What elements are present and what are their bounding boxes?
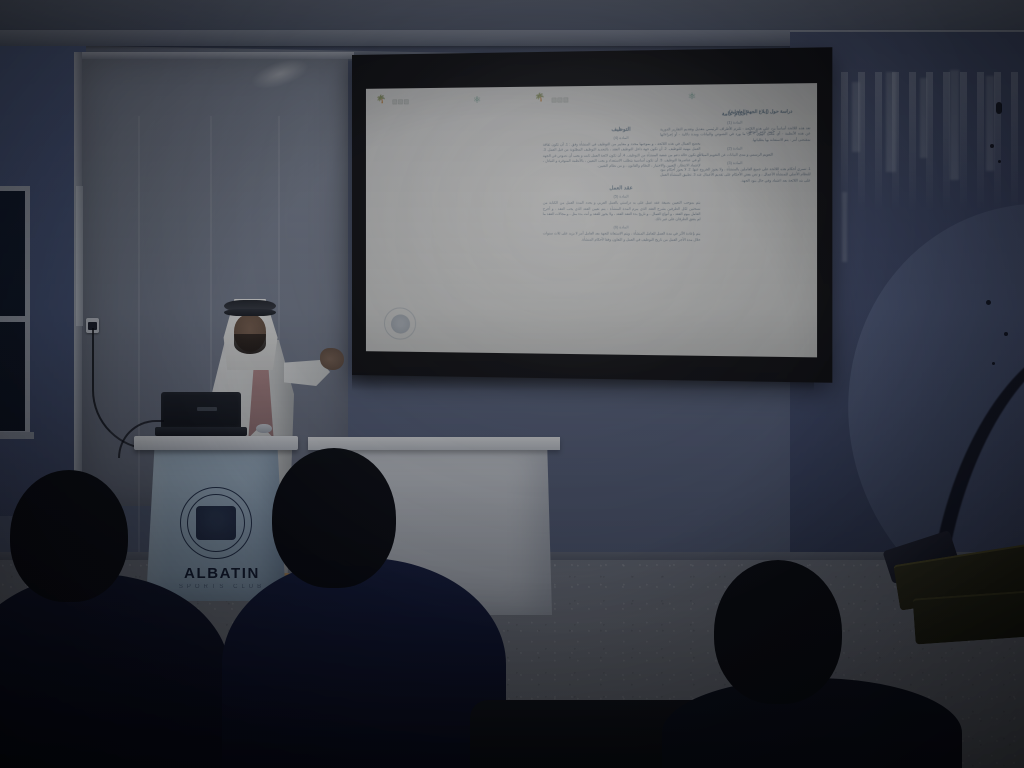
article-label-g3: المادة (3): [660, 161, 810, 166]
slide-block-heading-general: أحكام عامة: [660, 110, 810, 118]
wall-conduit: [76, 186, 83, 326]
presenter-beard: [234, 334, 266, 354]
article-text-2: يتم بموجب التعيين بصيغة عقد عمل على يد د…: [543, 201, 701, 223]
presenter-igal-lower: [224, 309, 276, 316]
audience-member-left: [0, 470, 216, 768]
audience-member-right: [672, 560, 932, 768]
laptop-badge: [197, 407, 217, 411]
window: [0, 186, 30, 436]
screenshot-root: ⚛ ▧▧▧ 🌴 ⚛ ▧▧▧ 🌴 دراسة حول (إبلاغ الجهة ا…: [0, 0, 1024, 768]
club-seal-icon: ⚛: [688, 91, 696, 102]
albatin-club-logo-watermark: [384, 307, 416, 340]
ministry-logo-icon-2: ▧▧▧: [392, 98, 409, 105]
article-label-2: المادة (5): [543, 195, 701, 199]
laptop[interactable]: [155, 392, 247, 438]
article-label-g2: المادة (2): [660, 146, 810, 151]
presenter-hand: [320, 348, 344, 370]
club-seal-icon-2: ⚛: [473, 94, 481, 105]
ministry-logo-icon: ▧▧▧: [551, 96, 569, 103]
saudi-palm-emblem-icon: 🌴: [535, 93, 545, 102]
saudi-palm-emblem-icon-2: 🌴: [376, 95, 385, 104]
projection-screen-frame: ⚛ ▧▧▧ 🌴 ⚛ ▧▧▧ 🌴 دراسة حول (إبلاغ الجهة ا…: [352, 47, 832, 383]
article-text-g1: تعد هذه اللائحة أساساً يرد على هذه اللائ…: [660, 126, 810, 144]
slide-top-logos: ⚛ ▧▧▧ 🌴 ⚛ ▧▧▧ 🌴: [366, 87, 817, 111]
audience-member-center: [228, 448, 480, 768]
window-sill: [0, 432, 34, 439]
laptop-lid: [161, 392, 241, 428]
mouse[interactable]: [256, 424, 272, 433]
article-text-g2: التعويم الرسمي و مدى البيانات عن التقويم…: [660, 152, 810, 158]
slide-block-heading-2: عقد العمل: [543, 185, 701, 192]
article-label-g1: المادة (1): [660, 120, 810, 126]
article-text-g3: 1. تسري أحكام هذه اللائحة على جميع العام…: [660, 167, 810, 184]
article-label-3: المادة (6): [543, 226, 701, 230]
panel-frame-top: [74, 52, 354, 59]
laptop-base: [155, 427, 247, 436]
projection-screen-surface[interactable]: ⚛ ▧▧▧ 🌴 ⚛ ▧▧▧ 🌴 دراسة حول (إبلاغ الجهة ا…: [366, 83, 817, 357]
article-text-3: يتم بإعادة الأثر في مدة العمل للعامل الم…: [543, 232, 701, 243]
slide-column-right: أحكام عامة المادة (1) تعد هذه اللائحة أس…: [660, 110, 810, 186]
window-mullion: [0, 316, 30, 322]
presentation-slide: ⚛ ▧▧▧ 🌴 ⚛ ▧▧▧ 🌴 دراسة حول (إبلاغ الجهة ا…: [366, 83, 817, 357]
